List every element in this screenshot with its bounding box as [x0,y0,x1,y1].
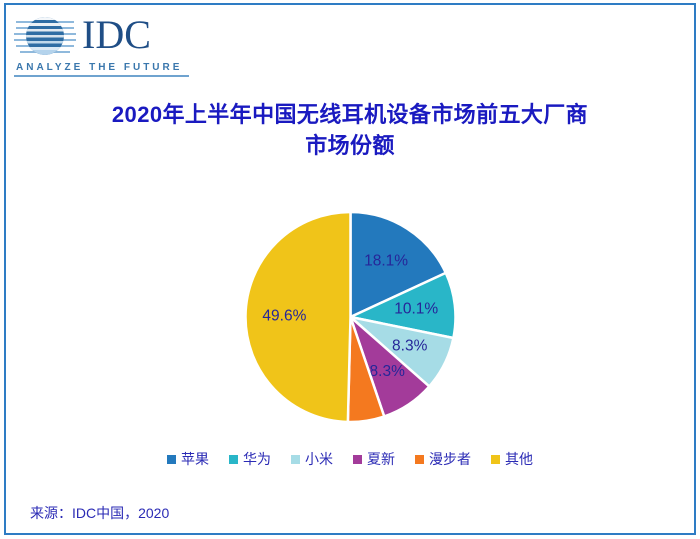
page-title-line-2: 市场份额 [60,130,640,161]
legend-item[interactable]: 漫步者 [415,452,471,466]
page-title: 2020年上半年中国无线耳机设备市场前五大厂商 市场份额 [60,99,640,161]
legend-item[interactable]: 小米 [291,452,333,466]
logo-divider [14,75,189,77]
pie-slice-label: 49.6% [262,307,306,324]
legend-label: 苹果 [181,452,209,466]
legend-swatch-icon [415,455,424,464]
legend-item[interactable]: 夏新 [353,452,395,466]
pie-slice-label: 10.1% [394,300,438,317]
legend-swatch-icon [491,455,500,464]
pie-chart: 18.1%10.1%8.3%8.3%5.6%49.6% [238,205,463,430]
legend-label: 小米 [305,452,333,466]
legend-label: 其他 [505,452,533,466]
pie-slice-label: 18.1% [364,252,408,269]
legend-swatch-icon [229,455,238,464]
legend-item[interactable]: 其他 [491,452,533,466]
slide-canvas: IDC ANALYZE THE FUTURE 2020年上半年中国无线耳机设备市… [0,0,700,539]
source-note: 来源：IDC中国，2020 [30,503,169,523]
legend-label: 漫步者 [429,452,471,466]
legend-swatch-icon [167,455,176,464]
page-title-line-1: 2020年上半年中国无线耳机设备市场前五大厂商 [60,99,640,130]
chart-legend: 苹果华为小米夏新漫步者其他 [0,452,700,466]
idc-globe-icon [14,14,76,60]
pie-slice-label: 8.3% [370,363,406,380]
legend-item[interactable]: 华为 [229,452,271,466]
legend-swatch-icon [291,455,300,464]
pie-slice-label: 8.3% [392,338,428,355]
idc-wordmark: IDC [82,15,151,55]
legend-label: 华为 [243,452,271,466]
idc-logo: IDC ANALYZE THE FUTURE [14,14,189,74]
idc-tagline: ANALYZE THE FUTURE [16,62,182,73]
legend-swatch-icon [353,455,362,464]
legend-item[interactable]: 苹果 [167,452,209,466]
legend-label: 夏新 [367,452,395,466]
